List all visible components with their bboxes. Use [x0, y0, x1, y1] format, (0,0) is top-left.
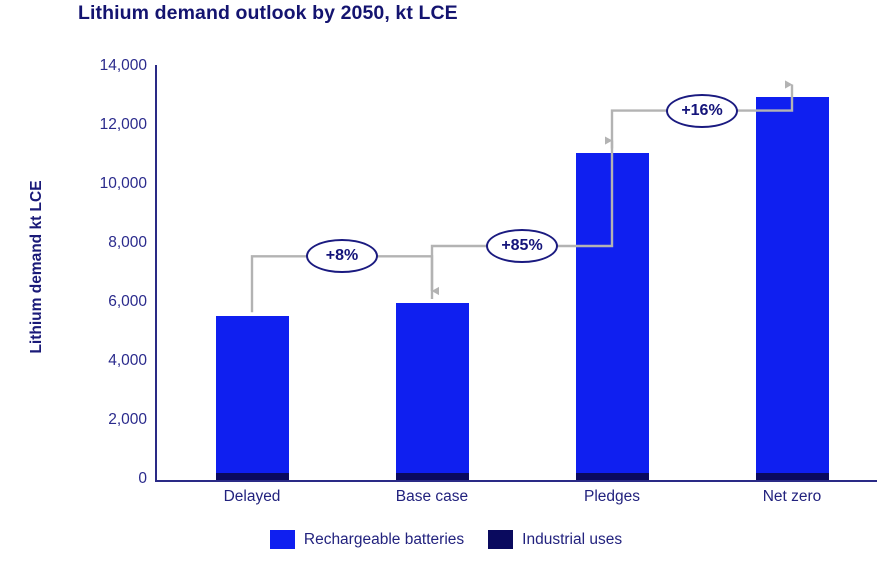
x-tick-label: Net zero	[702, 488, 882, 506]
bar-pledges[interactable]	[576, 153, 649, 480]
y-tick-label: 8,000	[57, 234, 147, 252]
bar-delayed[interactable]	[216, 316, 289, 480]
x-tick-label: Base case	[342, 488, 522, 506]
bar-segment-rechargeable-batteries	[756, 97, 829, 473]
lithium-demand-bar-chart: Lithium demand outlook by 2050, kt LCE L…	[0, 0, 892, 565]
y-tick-label: 14,000	[57, 57, 147, 75]
plot-area	[155, 67, 875, 480]
y-axis-tick-labels: 14,00012,00010,0008,0006,0004,0002,0000	[52, 0, 147, 565]
x-tick-label: Delayed	[162, 488, 342, 506]
growth-badge-16-percent: +16%	[666, 94, 738, 128]
bar-segment-industrial-uses	[396, 473, 469, 480]
y-tick-label: 2,000	[57, 411, 147, 429]
legend-swatch-rechargeable-batteries	[270, 530, 295, 549]
y-tick-label: 6,000	[57, 293, 147, 311]
bar-segment-industrial-uses	[576, 473, 649, 480]
chart-legend: Rechargeable batteries Industrial uses	[0, 530, 892, 549]
bar-segment-rechargeable-batteries	[216, 316, 289, 472]
y-tick-label: 4,000	[57, 352, 147, 370]
bar-segment-rechargeable-batteries	[576, 153, 649, 473]
y-tick-label: 10,000	[57, 175, 147, 193]
legend-swatch-industrial-uses	[488, 530, 513, 549]
legend-item-industrial-uses[interactable]: Industrial uses	[488, 530, 622, 549]
y-tick-label: 0	[57, 470, 147, 488]
bar-base-case[interactable]	[396, 303, 469, 480]
legend-label-rechargeable-batteries: Rechargeable batteries	[304, 531, 464, 549]
x-axis-line	[155, 480, 877, 482]
bar-segment-rechargeable-batteries	[396, 303, 469, 473]
bar-segment-industrial-uses	[756, 473, 829, 480]
x-tick-label: Pledges	[522, 488, 702, 506]
growth-badge-85-percent: +85%	[486, 229, 558, 263]
bar-net-zero[interactable]	[756, 97, 829, 481]
y-axis-title: Lithium demand kt LCE	[28, 167, 46, 367]
bar-segment-industrial-uses	[216, 473, 289, 480]
y-tick-label: 12,000	[57, 116, 147, 134]
legend-label-industrial-uses: Industrial uses	[522, 531, 622, 549]
legend-item-rechargeable-batteries[interactable]: Rechargeable batteries	[270, 530, 464, 549]
